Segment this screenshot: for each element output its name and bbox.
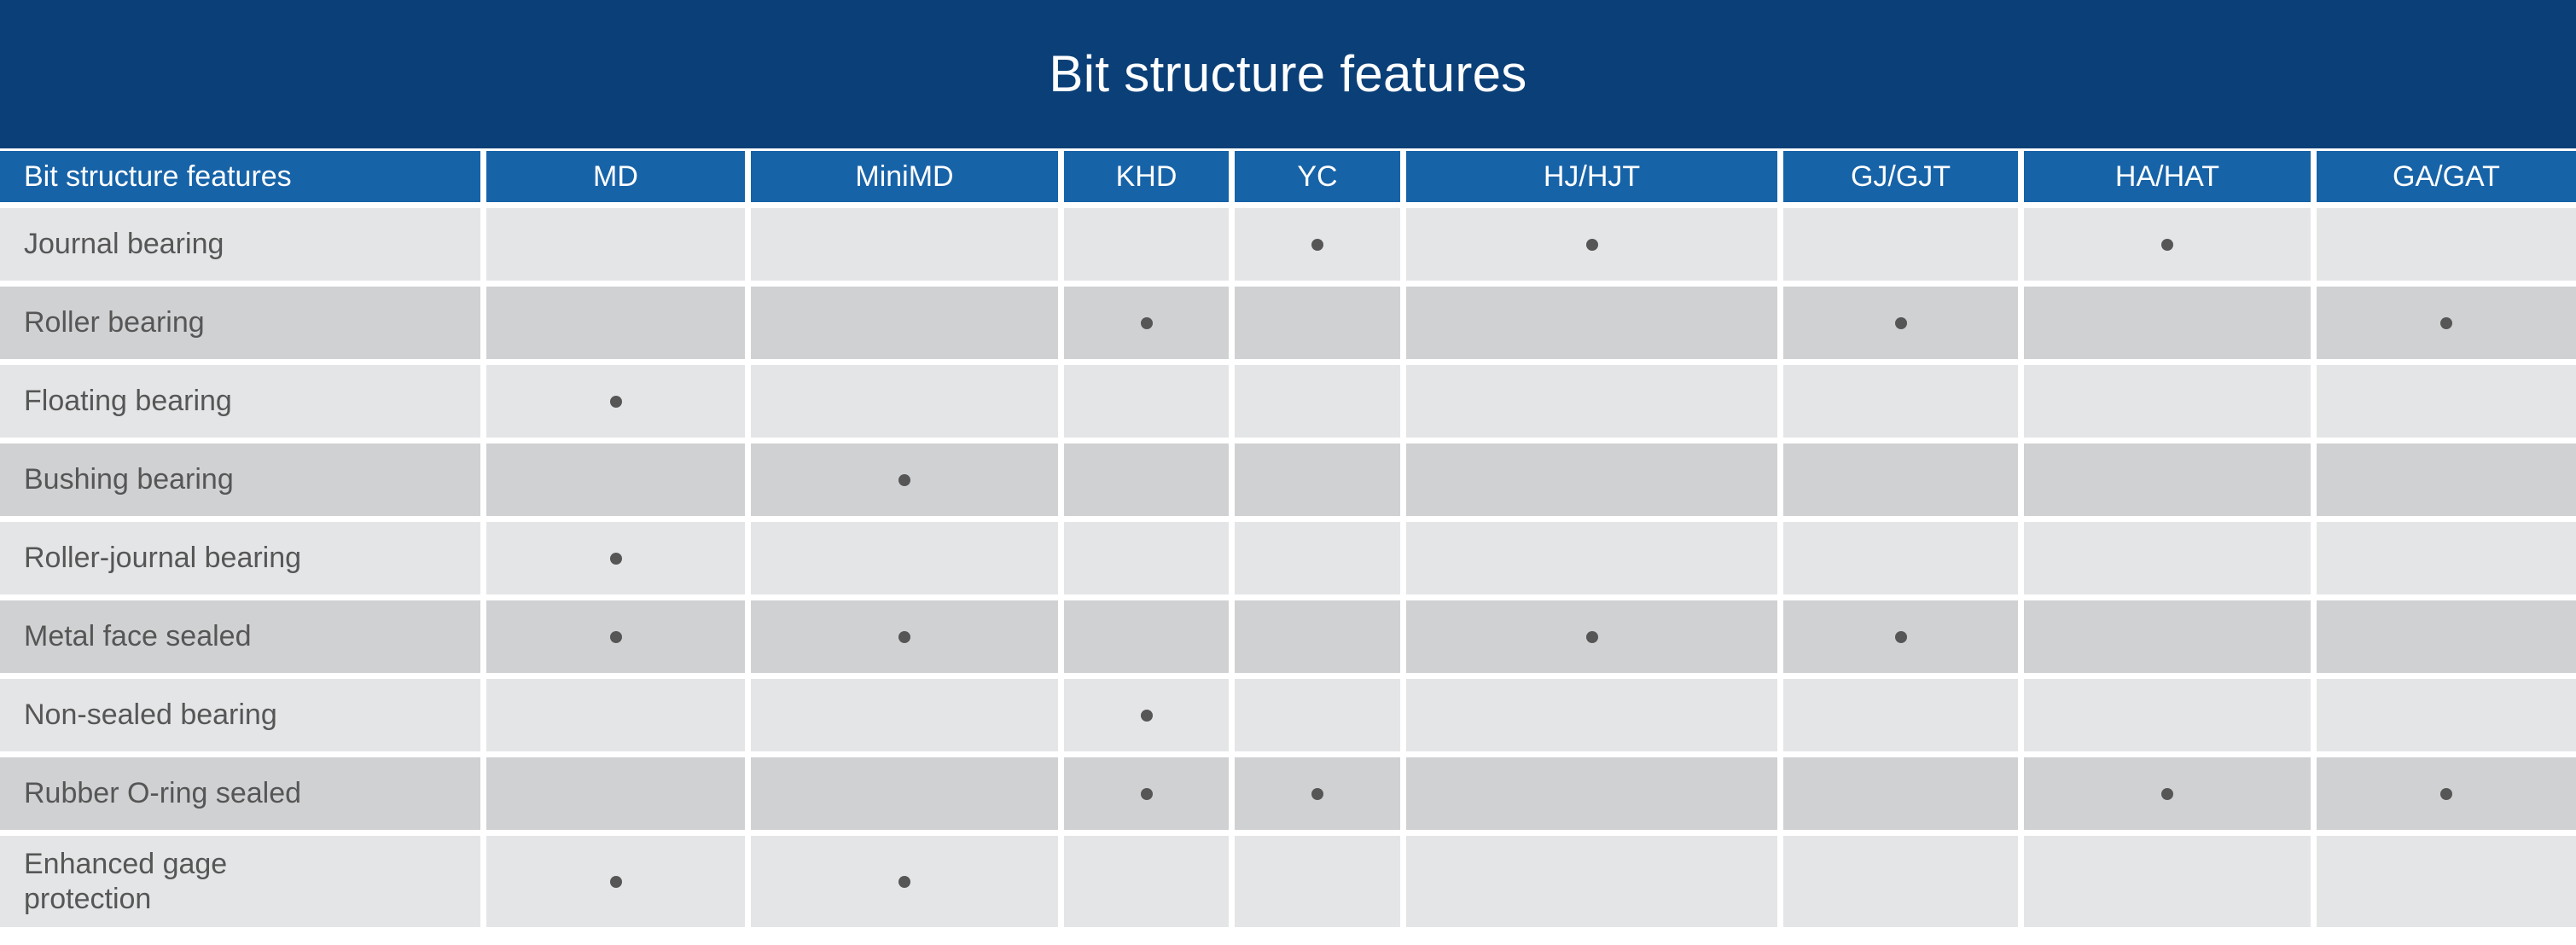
cell-hj-hjt	[1406, 522, 1783, 594]
cell-ha-hat	[2024, 679, 2317, 751]
table-header-row: Bit structure features MD MiniMD KHD YC …	[0, 151, 2576, 202]
feature-dot	[610, 631, 622, 643]
cell-hj-hjt	[1406, 444, 1783, 516]
cell-ha-hat	[2024, 444, 2317, 516]
cell-ha-hat	[2024, 522, 2317, 594]
cell-khd	[1064, 287, 1235, 359]
cell-gj-gjt	[1783, 679, 2024, 751]
cell-ha-hat	[2024, 208, 2317, 281]
cell-minimd	[751, 836, 1064, 927]
cell-ha-hat	[2024, 287, 2317, 359]
table-page: Bit structure features Bit structure fea…	[0, 0, 2576, 945]
table-row: Roller bearing	[0, 287, 2576, 359]
table-row: Journal bearing	[0, 208, 2576, 281]
cell-hj-hjt	[1406, 600, 1783, 673]
cell-ga-gat	[2317, 287, 2576, 359]
feature-dot	[610, 876, 622, 888]
column-header-yc: YC	[1235, 151, 1406, 202]
cell-yc	[1235, 836, 1406, 927]
column-header-gj-gjt: GJ/GJT	[1783, 151, 2024, 202]
cell-gj-gjt	[1783, 522, 2024, 594]
cell-hj-hjt	[1406, 836, 1783, 927]
table-row: Non-sealed bearing	[0, 679, 2576, 751]
cell-yc	[1235, 287, 1406, 359]
cell-khd	[1064, 365, 1235, 438]
cell-ga-gat	[2317, 522, 2576, 594]
column-header-ga-gat: GA/GAT	[2317, 151, 2576, 202]
cell-md	[486, 208, 751, 281]
cell-md	[486, 757, 751, 830]
feature-dot	[2161, 788, 2173, 800]
cell-minimd	[751, 757, 1064, 830]
cell-yc	[1235, 208, 1406, 281]
column-header-md: MD	[486, 151, 751, 202]
cell-md	[486, 365, 751, 438]
feature-dot	[1895, 631, 1907, 643]
cell-md	[486, 444, 751, 516]
row-label: Metal face sealed	[0, 619, 252, 653]
table-row: Bushing bearing	[0, 444, 2576, 516]
cell-minimd	[751, 522, 1064, 594]
feature-dot	[1311, 788, 1323, 800]
feature-dot	[1141, 317, 1153, 329]
page-title: Bit structure features	[1049, 49, 1526, 100]
cell-ga-gat	[2317, 679, 2576, 751]
table-row: Rubber O-ring sealed	[0, 757, 2576, 830]
cell-minimd	[751, 444, 1064, 516]
feature-dot	[1141, 710, 1153, 722]
column-header-bit-structure-features: Bit structure features	[0, 151, 486, 202]
row-label: Journal bearing	[0, 227, 224, 261]
row-label: Roller-journal bearing	[0, 541, 301, 575]
cell-ga-gat	[2317, 600, 2576, 673]
feature-dot	[898, 876, 910, 888]
cell-hj-hjt	[1406, 365, 1783, 438]
cell-md	[486, 522, 751, 594]
row-label: Roller bearing	[0, 305, 205, 339]
feature-dot	[1311, 239, 1323, 251]
cell-yc	[1235, 444, 1406, 516]
cell-khd	[1064, 444, 1235, 516]
cell-gj-gjt	[1783, 444, 2024, 516]
cell-ha-hat	[2024, 600, 2317, 673]
feature-dot	[898, 631, 910, 643]
cell-md	[486, 600, 751, 673]
row-label-cell: Roller bearing	[0, 287, 486, 359]
cell-yc	[1235, 679, 1406, 751]
row-label: Enhanced gage protection	[0, 847, 227, 915]
cell-ha-hat	[2024, 757, 2317, 830]
cell-minimd	[751, 208, 1064, 281]
feature-dot	[1895, 317, 1907, 329]
column-header-ha-hat: HA/HAT	[2024, 151, 2317, 202]
cell-gj-gjt	[1783, 365, 2024, 438]
cell-ha-hat	[2024, 365, 2317, 438]
title-banner: Bit structure features	[0, 0, 2576, 148]
cell-khd	[1064, 208, 1235, 281]
cell-hj-hjt	[1406, 208, 1783, 281]
row-label-cell: Roller-journal bearing	[0, 522, 486, 594]
feature-dot	[1141, 788, 1153, 800]
cell-md	[486, 287, 751, 359]
table-row: Roller-journal bearing	[0, 522, 2576, 594]
cell-minimd	[751, 679, 1064, 751]
feature-dot	[2440, 788, 2452, 800]
cell-ga-gat	[2317, 757, 2576, 830]
row-label-cell: Journal bearing	[0, 208, 486, 281]
cell-minimd	[751, 600, 1064, 673]
cell-minimd	[751, 287, 1064, 359]
cell-yc	[1235, 365, 1406, 438]
row-label-cell: Bushing bearing	[0, 444, 486, 516]
row-label: Bushing bearing	[0, 462, 234, 496]
row-label-cell: Rubber O-ring sealed	[0, 757, 486, 830]
cell-yc	[1235, 522, 1406, 594]
cell-khd	[1064, 522, 1235, 594]
row-label: Floating bearing	[0, 384, 232, 418]
cell-yc	[1235, 600, 1406, 673]
row-label-cell: Floating bearing	[0, 365, 486, 438]
cell-ga-gat	[2317, 836, 2576, 927]
cell-khd	[1064, 836, 1235, 927]
column-header-hj-hjt: HJ/HJT	[1406, 151, 1783, 202]
cell-md	[486, 836, 751, 927]
row-label-cell: Non-sealed bearing	[0, 679, 486, 751]
cell-ga-gat	[2317, 208, 2576, 281]
column-header-khd: KHD	[1064, 151, 1235, 202]
cell-ga-gat	[2317, 365, 2576, 438]
cell-minimd	[751, 365, 1064, 438]
table-row: Floating bearing	[0, 365, 2576, 438]
row-label-cell: Metal face sealed	[0, 600, 486, 673]
table-row: Metal face sealed	[0, 600, 2576, 673]
row-label-cell: Enhanced gage protection	[0, 836, 486, 927]
feature-dot	[610, 553, 622, 565]
cell-gj-gjt	[1783, 208, 2024, 281]
column-header-minimd: MiniMD	[751, 151, 1064, 202]
feature-dot	[2440, 317, 2452, 329]
table-row: Enhanced gage protection	[0, 836, 2576, 927]
cell-khd	[1064, 679, 1235, 751]
features-table: Bit structure features MD MiniMD KHD YC …	[0, 151, 2576, 945]
feature-dot	[2161, 239, 2173, 251]
cell-yc	[1235, 757, 1406, 830]
feature-dot	[1586, 239, 1598, 251]
cell-khd	[1064, 600, 1235, 673]
cell-gj-gjt	[1783, 287, 2024, 359]
cell-ga-gat	[2317, 444, 2576, 516]
cell-md	[486, 679, 751, 751]
cell-gj-gjt	[1783, 836, 2024, 927]
cell-gj-gjt	[1783, 757, 2024, 830]
cell-hj-hjt	[1406, 757, 1783, 830]
row-label: Rubber O-ring sealed	[0, 776, 301, 810]
feature-dot	[1586, 631, 1598, 643]
row-label: Non-sealed bearing	[0, 698, 277, 732]
feature-dot	[898, 474, 910, 486]
cell-hj-hjt	[1406, 679, 1783, 751]
cell-khd	[1064, 757, 1235, 830]
cell-ha-hat	[2024, 836, 2317, 927]
cell-gj-gjt	[1783, 600, 2024, 673]
feature-dot	[610, 396, 622, 408]
cell-hj-hjt	[1406, 287, 1783, 359]
